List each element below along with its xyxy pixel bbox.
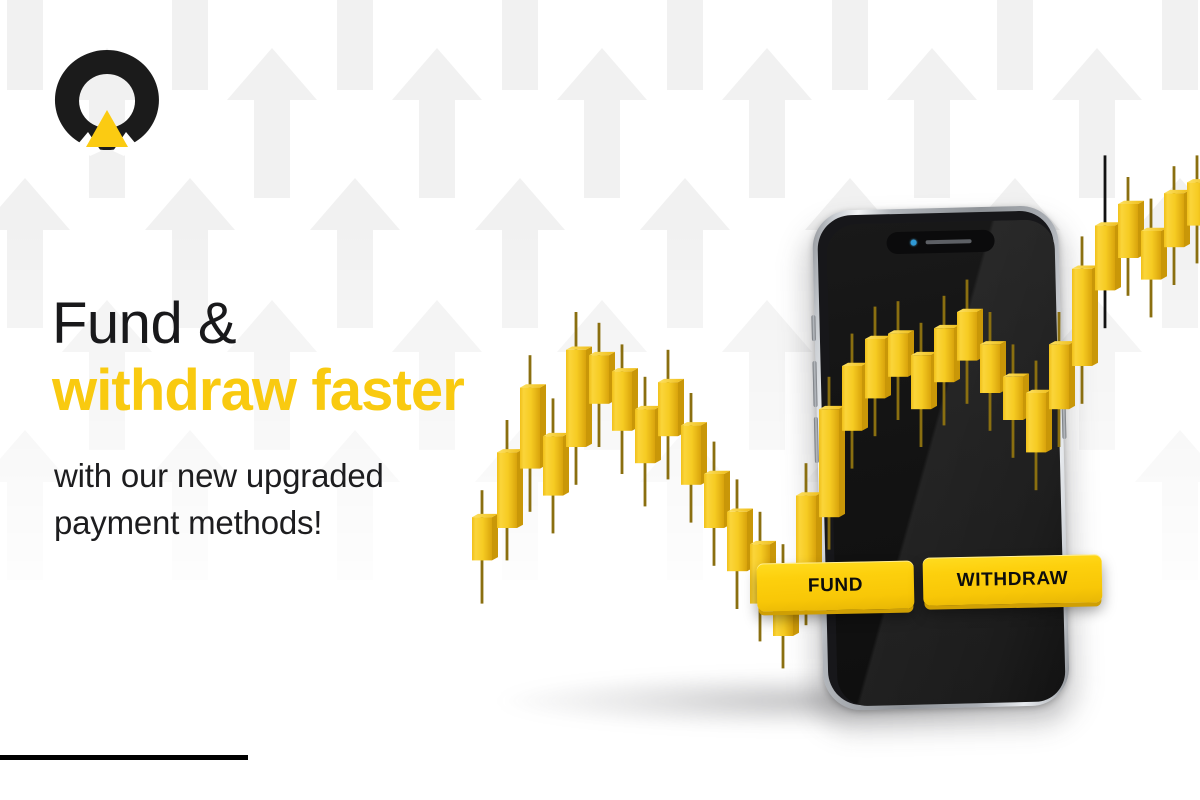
phone-bezel	[817, 210, 1065, 706]
candle-side-face	[701, 422, 707, 485]
candle-body	[727, 512, 747, 571]
candle-side-face	[1184, 190, 1190, 247]
candle	[704, 442, 730, 566]
candle-wick	[1150, 199, 1153, 318]
candle-body	[1187, 182, 1200, 225]
candle-side-face	[747, 509, 753, 572]
earpiece-speaker-icon	[925, 239, 971, 244]
subheadline-line-2: payment methods!	[54, 499, 614, 546]
fund-button[interactable]: FUND	[757, 560, 915, 611]
candle-body	[681, 425, 701, 484]
screen-glass-reflection	[826, 219, 1066, 706]
candle-body	[704, 474, 724, 528]
candle-top-face	[543, 433, 569, 436]
candle	[1187, 155, 1200, 263]
candle-top-face	[1072, 266, 1098, 269]
headline-line-2: withdraw faster	[52, 358, 672, 424]
candle-side-face	[1161, 228, 1167, 280]
candle-wick	[736, 479, 739, 609]
candle-body	[1118, 204, 1138, 258]
phone-notch	[886, 230, 995, 255]
withdraw-button-label: WITHDRAW	[957, 568, 1069, 592]
candle	[1164, 166, 1190, 285]
withdraw-button[interactable]: WITHDRAW	[923, 554, 1103, 605]
subheadline-block: with our new upgraded payment methods!	[54, 452, 614, 546]
candle	[727, 479, 753, 609]
phone-frame	[812, 205, 1070, 711]
headline-block: Fund & withdraw faster	[52, 292, 672, 424]
candle-body	[1141, 231, 1161, 280]
candle-top-face	[681, 422, 707, 425]
headline-line-1: Fund &	[52, 292, 672, 356]
candle-wick	[1081, 236, 1084, 403]
phone-screen[interactable]	[826, 219, 1066, 706]
candle-side-face	[1092, 266, 1098, 367]
candle-top-face	[1164, 190, 1190, 193]
candle-top-face	[704, 471, 730, 474]
candle-body	[1072, 269, 1092, 366]
candle-side-face	[678, 379, 684, 436]
bottom-rule-divider	[0, 755, 248, 760]
candle-body	[1164, 193, 1184, 247]
candle-wick	[1127, 177, 1130, 296]
candle-wick	[1196, 155, 1199, 263]
phone-volume-up-button[interactable]	[812, 361, 817, 407]
candle	[681, 393, 707, 523]
candle-top-face	[1095, 222, 1121, 225]
candle	[1095, 155, 1121, 328]
candle-top-face	[1118, 201, 1144, 204]
candle-side-face	[1115, 222, 1121, 290]
smartphone-device	[812, 205, 1070, 721]
candle-body	[1095, 226, 1115, 291]
candle-wick	[1173, 166, 1176, 285]
candle-wick	[713, 442, 716, 566]
front-camera-icon	[910, 240, 916, 246]
candle	[1141, 199, 1167, 318]
candle	[1072, 236, 1098, 403]
candle-top-face	[1187, 179, 1200, 182]
candle-side-face	[724, 471, 730, 528]
candle-top-face	[750, 541, 776, 544]
candle-wick	[690, 393, 693, 523]
candle-side-face	[1138, 201, 1144, 258]
subheadline-line-1: with our new upgraded	[54, 452, 614, 499]
phone-volume-down-button[interactable]	[814, 417, 819, 463]
brand-logo[interactable]	[44, 48, 170, 156]
action-button-group: FUND WITHDRAW	[757, 552, 1102, 614]
candle-wick	[1104, 155, 1107, 328]
fund-button-label: FUND	[808, 574, 864, 597]
candle-top-face	[1141, 228, 1167, 231]
candle	[1118, 177, 1144, 296]
promotional-banner: Fund & withdraw faster with our new upgr…	[0, 0, 1200, 800]
phone-mute-switch[interactable]	[811, 315, 816, 341]
candle-top-face	[727, 509, 753, 512]
